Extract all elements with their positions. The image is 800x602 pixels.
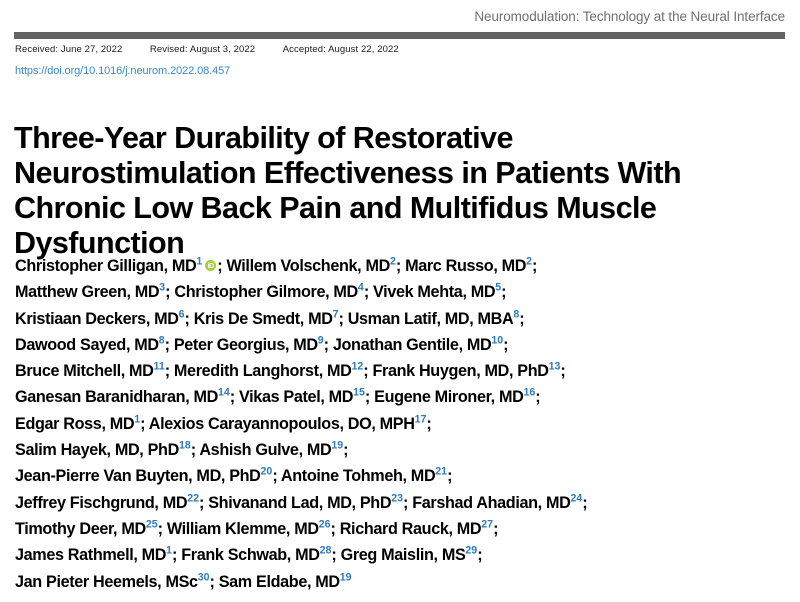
author-entry: Marc Russo, MD2; <box>405 257 537 275</box>
author-entry: Eugene Mironer, MD16; <box>374 388 540 406</box>
affiliation-superscript[interactable]: 24 <box>570 492 582 504</box>
author-line: Dawood Sayed, MD8; Peter Georgius, MD9; … <box>15 332 790 358</box>
author-separator: ; <box>396 257 405 275</box>
author-entry: Antoine Tohmeh, MD21; <box>281 467 452 485</box>
author-name: Timothy Deer, MD <box>15 520 146 538</box>
author-entry: Edgar Ross, MD1; <box>15 415 149 433</box>
author-separator: ; <box>426 415 431 433</box>
author-name: Jonathan Gentile, MD <box>333 336 492 354</box>
affiliation-superscript[interactable]: 27 <box>481 519 493 531</box>
author-name: Jeffrey Fischgrund, MD <box>15 494 187 512</box>
affiliation-superscript[interactable]: 26 <box>319 519 331 531</box>
author-separator: ; <box>140 415 149 433</box>
author-separator: ; <box>503 336 508 354</box>
author-line: Jeffrey Fischgrund, MD22; Shivanand Lad,… <box>15 490 790 516</box>
author-entry: Peter Georgius, MD9; <box>174 336 333 354</box>
author-separator: ; <box>185 310 194 328</box>
author-separator: ; <box>165 283 174 301</box>
author-name: Shivanand Lad, MD, PhD <box>208 494 391 512</box>
author-name: Willem Volschenk, MD <box>226 257 389 275</box>
author-name: Vikas Patel, MD <box>239 388 353 406</box>
author-name: Jan Pieter Heemels, MSc <box>15 573 198 591</box>
affiliation-superscript[interactable]: 29 <box>465 545 477 557</box>
author-separator: ; <box>501 283 506 301</box>
author-entry: Ashish Gulve, MD19; <box>199 441 348 459</box>
affiliation-superscript[interactable]: 15 <box>353 387 365 399</box>
author-entry: Farshad Ahadian, MD24; <box>412 494 587 512</box>
author-entry: William Klemme, MD26; <box>167 520 340 538</box>
author-separator: ; <box>272 467 281 485</box>
author-name: Frank Schwab, MD <box>181 546 319 564</box>
author-name: Christopher Gilligan, MD <box>15 257 196 275</box>
author-separator: ; <box>493 520 498 538</box>
revised-date: Revised: August 3, 2022 <box>150 44 255 55</box>
author-name: Peter Georgius, MD <box>174 336 318 354</box>
author-name: William Klemme, MD <box>167 520 319 538</box>
author-separator: ; <box>364 283 373 301</box>
orcid-icon[interactable] <box>205 260 216 271</box>
author-separator: ; <box>165 336 174 354</box>
accepted-date: Accepted: August 22, 2022 <box>283 44 399 55</box>
affiliation-superscript[interactable]: 20 <box>261 466 273 478</box>
author-name: Marc Russo, MD <box>405 257 526 275</box>
journal-name: Neuromodulation: Technology at the Neura… <box>15 9 785 24</box>
article-first-page: Neuromodulation: Technology at the Neura… <box>0 0 800 602</box>
author-name: Sam Eldabe, MD <box>219 573 340 591</box>
article-history: Received: June 27, 2022 Revised: August … <box>15 44 399 55</box>
author-entry: Greg Maislin, MS29; <box>341 546 483 564</box>
author-separator: ; <box>199 494 208 512</box>
affiliation-superscript[interactable]: 10 <box>491 335 503 347</box>
author-separator: ; <box>477 546 482 564</box>
author-separator: ; <box>331 546 340 564</box>
author-separator: ; <box>343 441 348 459</box>
author-entry: Shivanand Lad, MD, PhD23; <box>208 494 412 512</box>
author-entry: Christopher Gilligan, MD1; <box>15 257 226 275</box>
author-entry: Timothy Deer, MD25; <box>15 520 167 538</box>
author-line: Ganesan Baranidharan, MD14; Vikas Patel,… <box>15 384 790 410</box>
author-line: Matthew Green, MD3; Christopher Gilmore,… <box>15 279 790 305</box>
author-separator: ; <box>324 336 333 354</box>
author-entry: Alexios Carayannopoulos, DO, MPH17; <box>149 415 432 433</box>
author-entry: Willem Volschenk, MD2; <box>226 257 405 275</box>
title-line: Neurostimulation Effectiveness in Patien… <box>14 156 786 191</box>
author-name: Dawood Sayed, MD <box>15 336 159 354</box>
affiliation-superscript[interactable]: 1 <box>196 256 202 268</box>
author-name: Kris De Smedt, MD <box>194 310 333 328</box>
author-separator: ; <box>535 388 540 406</box>
author-name: Matthew Green, MD <box>15 283 159 301</box>
author-line: Kristiaan Deckers, MD6; Kris De Smedt, M… <box>15 306 790 332</box>
author-separator: ; <box>172 546 181 564</box>
author-name: Usman Latif, MD, MBA <box>348 310 514 328</box>
affiliation-superscript[interactable]: 13 <box>549 361 561 373</box>
author-entry: Jean-Pierre Van Buyten, MD, PhD20; <box>15 467 281 485</box>
doi-link[interactable]: https://doi.org/10.1016/j.neurom.2022.08… <box>15 65 230 77</box>
author-separator: ; <box>447 467 452 485</box>
author-name: Ganesan Baranidharan, MD <box>15 388 218 406</box>
author-entry: Frank Schwab, MD28; <box>181 546 340 564</box>
author-line: Edgar Ross, MD1; Alexios Carayannopoulos… <box>15 411 790 437</box>
title-line: Chronic Low Back Pain and Multifidus Mus… <box>14 191 786 226</box>
author-entry: Bruce Mitchell, MD11; <box>15 362 174 380</box>
author-separator: ; <box>210 573 219 591</box>
affiliation-superscript[interactable]: 19 <box>340 571 352 583</box>
affiliation-superscript[interactable]: 23 <box>391 492 403 504</box>
author-name: Christopher Gilmore, MD <box>174 283 358 301</box>
author-entry: Ganesan Baranidharan, MD14; <box>15 388 239 406</box>
author-name: James Rathmell, MD <box>15 546 166 564</box>
author-entry: Vivek Mehta, MD5; <box>373 283 506 301</box>
author-entry: Richard Rauck, MD27; <box>340 520 498 538</box>
author-entry: Usman Latif, MD, MBA8; <box>348 310 525 328</box>
affiliation-superscript[interactable]: 28 <box>320 545 332 557</box>
author-name: Eugene Mironer, MD <box>374 388 523 406</box>
page-title: Three-Year Durability of RestorativeNeur… <box>14 121 786 261</box>
author-entry: Salim Hayek, MD, PhD18; <box>15 441 199 459</box>
author-entry: Dawood Sayed, MD8; <box>15 336 174 354</box>
author-name: Meredith Langhorst, MD <box>174 362 352 380</box>
author-separator: ; <box>365 388 374 406</box>
author-separator: ; <box>582 494 587 512</box>
author-entry: Sam Eldabe, MD19 <box>219 573 352 591</box>
author-name: Edgar Ross, MD <box>15 415 134 433</box>
author-line: Bruce Mitchell, MD11; Meredith Langhorst… <box>15 358 790 384</box>
author-name: Alexios Carayannopoulos, DO, MPH <box>149 415 415 433</box>
affiliation-superscript[interactable]: 11 <box>154 361 165 373</box>
author-separator: ; <box>560 362 565 380</box>
affiliation-superscript[interactable]: 12 <box>351 361 363 373</box>
author-line: Christopher Gilligan, MD1; Willem Volsch… <box>15 253 790 279</box>
author-separator: ; <box>403 494 412 512</box>
author-name: Vivek Mehta, MD <box>373 283 495 301</box>
author-name: Antoine Tohmeh, MD <box>281 467 435 485</box>
author-separator: ; <box>158 520 167 538</box>
author-entry: James Rathmell, MD1; <box>15 546 181 564</box>
affiliation-superscript[interactable]: 30 <box>198 571 210 583</box>
author-name: Kristiaan Deckers, MD <box>15 310 179 328</box>
author-name: Salim Hayek, MD, PhD <box>15 441 179 459</box>
author-separator: ; <box>338 310 347 328</box>
author-separator: ; <box>519 310 524 328</box>
affiliation-superscript[interactable]: 18 <box>179 440 191 452</box>
author-entry: Matthew Green, MD3; <box>15 283 174 301</box>
author-line: Timothy Deer, MD25; William Klemme, MD26… <box>15 516 790 542</box>
affiliation-superscript[interactable]: 16 <box>523 387 535 399</box>
author-separator: ; <box>331 520 340 538</box>
author-line: Jean-Pierre Van Buyten, MD, PhD20; Antoi… <box>15 463 790 489</box>
author-name: Farshad Ahadian, MD <box>412 494 570 512</box>
author-separator: ; <box>532 257 537 275</box>
author-separator: ; <box>165 362 174 380</box>
header-rule-bar <box>14 32 785 39</box>
affiliation-superscript[interactable]: 25 <box>146 519 158 531</box>
author-entry: Vikas Patel, MD15; <box>239 388 374 406</box>
author-entry: Frank Huygen, MD, PhD13; <box>372 362 565 380</box>
author-name: Frank Huygen, MD, PhD <box>372 362 548 380</box>
author-line: Salim Hayek, MD, PhD18; Ashish Gulve, MD… <box>15 437 790 463</box>
author-entry: Christopher Gilmore, MD4; <box>174 283 373 301</box>
affiliation-superscript[interactable]: 14 <box>218 387 230 399</box>
author-list: Christopher Gilligan, MD1; Willem Volsch… <box>15 253 790 595</box>
affiliation-superscript[interactable]: 19 <box>331 440 343 452</box>
author-separator: ; <box>230 388 239 406</box>
author-name: Bruce Mitchell, MD <box>15 362 154 380</box>
affiliation-superscript[interactable]: 22 <box>187 492 199 504</box>
affiliation-superscript[interactable]: 17 <box>415 413 427 425</box>
author-name: Richard Rauck, MD <box>340 520 482 538</box>
title-line: Three-Year Durability of Restorative <box>14 121 786 156</box>
received-date: Received: June 27, 2022 <box>15 44 122 55</box>
author-name: Greg Maislin, MS <box>341 546 466 564</box>
affiliation-superscript[interactable]: 21 <box>435 466 447 478</box>
author-line: James Rathmell, MD1; Frank Schwab, MD28;… <box>15 542 790 568</box>
author-name: Jean-Pierre Van Buyten, MD, PhD <box>15 467 261 485</box>
author-entry: Meredith Langhorst, MD12; <box>174 362 373 380</box>
author-entry: Kris De Smedt, MD7; <box>194 310 348 328</box>
author-name: Ashish Gulve, MD <box>199 441 331 459</box>
author-entry: Kristiaan Deckers, MD6; <box>15 310 194 328</box>
author-entry: Jeffrey Fischgrund, MD22; <box>15 494 208 512</box>
author-entry: Jan Pieter Heemels, MSc30; <box>15 573 219 591</box>
author-entry: Jonathan Gentile, MD10; <box>333 336 508 354</box>
author-line: Jan Pieter Heemels, MSc30; Sam Eldabe, M… <box>15 569 790 595</box>
